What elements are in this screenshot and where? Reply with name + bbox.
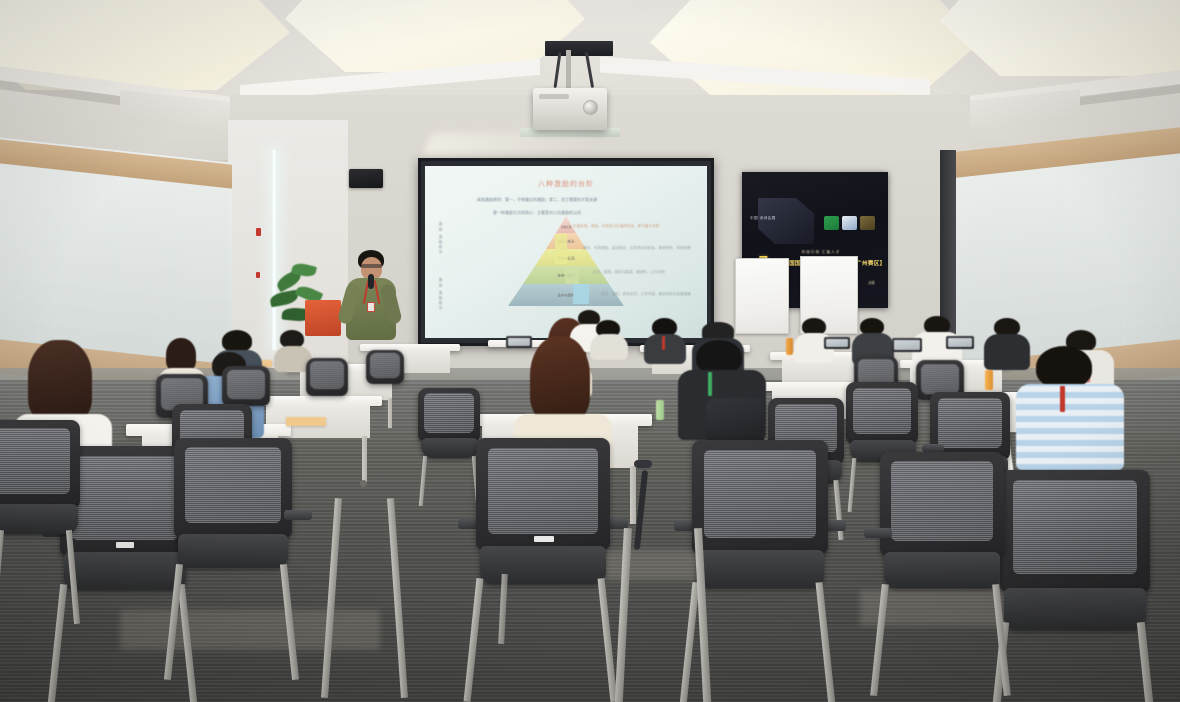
slide-side-note-3: 认可、表扬、团队归属感、被倾听、公平对待 [593, 270, 698, 275]
laptop [506, 336, 532, 348]
drink-cup [786, 338, 793, 355]
wall-speaker-icon [349, 169, 383, 188]
table-leg [362, 436, 367, 482]
pyramid-callout-bar-2 [565, 266, 579, 284]
presenter-glasses-icon [361, 264, 382, 268]
table-row2-right [760, 382, 860, 391]
presenter [340, 250, 402, 350]
laptop [946, 336, 974, 349]
slide-note-top: 高效激励原则：第一，不带偏见的激励；第二，员工需要的才是关键 [477, 197, 693, 203]
pyramid-callout-bar-1 [555, 234, 567, 264]
pyramid-callout-bar-3 [573, 284, 589, 304]
presenter-badge [367, 302, 375, 312]
hex-light-far-right-icon [940, 0, 1180, 76]
projector-ceiling-bracket [545, 41, 613, 56]
banner-logo-icon [758, 198, 814, 244]
banner-headline-small: 科技引领 汇聚人才 [762, 250, 880, 255]
laptop [824, 337, 850, 349]
hex-light-center-icon [285, 0, 585, 72]
fire-alarm-icon [256, 228, 261, 236]
water-bottle [656, 400, 664, 420]
notebook [286, 417, 326, 426]
training-room-photo: 八种激励的台阶 高效激励原则：第一，不带偏见的激励；第二，员工需要的才是关键 第… [0, 0, 1180, 702]
banner-side-right: 决赛 [868, 280, 875, 285]
umbrella-handle [634, 460, 652, 468]
laptop [892, 338, 922, 352]
microphone-icon [368, 274, 374, 289]
slide-title: 八种激励的台阶 [425, 179, 707, 189]
projector [533, 88, 607, 130]
fire-alarm-secondary-icon [256, 272, 260, 278]
banner-icon-bronze [860, 216, 875, 230]
table-caster [360, 480, 367, 487]
table-row3-left [252, 396, 382, 406]
planter-pot [305, 300, 341, 336]
projector-lens-icon [583, 100, 598, 115]
table-leg [630, 466, 636, 524]
projector-drop-pole [566, 50, 571, 90]
banner-logo-text: 中国·深圳会展 [750, 216, 776, 221]
slide-side-note-4: 薪资、福利、劳动合同、工作环境、稳定的职业发展通道 [601, 292, 699, 297]
banner-icon-green [824, 216, 839, 230]
slide-side-note-1: 价值实现、使命、实现自己价值的机会、参与重大决策 [573, 224, 693, 229]
slide-content: 八种激励的台阶 高效激励原则：第一，不带偏见的激励；第二，员工需要的才是关键 第… [425, 166, 707, 338]
banner-icon-silver [842, 216, 857, 230]
slide-side-note-2: 晋升、专项奖励、培训机会、主导项目的机会、荣誉称号、导师带教 [583, 246, 698, 251]
drink-cup [985, 370, 993, 390]
table-leg [388, 398, 392, 428]
flipchart-left [735, 258, 789, 334]
